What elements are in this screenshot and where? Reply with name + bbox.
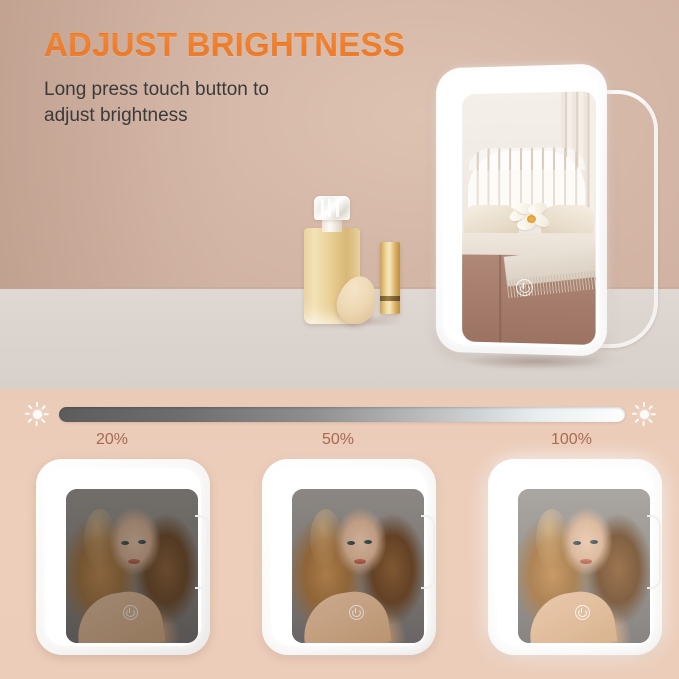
brightness-overlay	[518, 489, 650, 643]
mirror-frame	[436, 63, 607, 356]
brightness-level-50[interactable]	[256, 459, 443, 659]
led-light-panel	[271, 468, 427, 646]
sun-bright-icon	[631, 401, 657, 427]
mirror-glass	[292, 489, 424, 643]
page-subtitle: Long press touch button toadjust brightn…	[44, 77, 344, 129]
mirror-frame	[36, 459, 210, 655]
mirror-glass	[66, 489, 198, 643]
slider-track[interactable]	[59, 407, 625, 422]
brightness-comparison-section: 20% 50% 100%	[0, 389, 679, 679]
power-touch-button[interactable]	[516, 279, 533, 296]
mirror-frame	[488, 459, 662, 655]
mirror-stand	[647, 515, 661, 589]
lipstick-band	[380, 296, 400, 301]
mirror-glass	[518, 489, 650, 643]
brightness-labels: 20% 50% 100%	[0, 431, 679, 455]
page-title: ADJUST BRIGHTNESS	[44, 28, 444, 63]
brightness-label-50: 50%	[322, 431, 354, 449]
brightness-level-20[interactable]	[30, 459, 217, 659]
reflection-flower-decor	[509, 203, 553, 235]
headline-block: ADJUST BRIGHTNESS Long press touch butto…	[44, 28, 444, 129]
led-light-panel	[45, 468, 201, 646]
led-light-panel	[497, 468, 653, 646]
mirror-frame	[262, 459, 436, 655]
led-light-panel	[444, 72, 599, 348]
brightness-overlay	[292, 489, 424, 643]
still-life-props	[296, 196, 426, 324]
sun-dim-icon	[24, 401, 50, 427]
mirror-stand	[421, 515, 435, 589]
lipstick-tube	[380, 242, 400, 314]
reflection-blanket-seam	[499, 255, 501, 343]
led-vanity-mirror[interactable]	[434, 66, 620, 358]
reflection-headboard-arches	[468, 147, 585, 170]
hero-scene: ADJUST BRIGHTNESS Long press touch butto…	[0, 0, 679, 389]
mirror-thumbnails	[0, 459, 679, 674]
flower-center	[527, 215, 536, 223]
brightness-label-100: 100%	[551, 431, 592, 449]
brightness-slider[interactable]	[0, 399, 679, 429]
power-icon	[520, 284, 530, 293]
brightness-overlay	[66, 489, 198, 643]
mirror-glass	[462, 91, 595, 345]
perfume-crystal-cap	[314, 196, 350, 220]
product-feature-image: ADJUST BRIGHTNESS Long press touch butto…	[0, 0, 679, 679]
brightness-level-100[interactable]	[482, 459, 669, 659]
mirror-stand	[195, 515, 209, 589]
brightness-label-20: 20%	[96, 431, 128, 449]
